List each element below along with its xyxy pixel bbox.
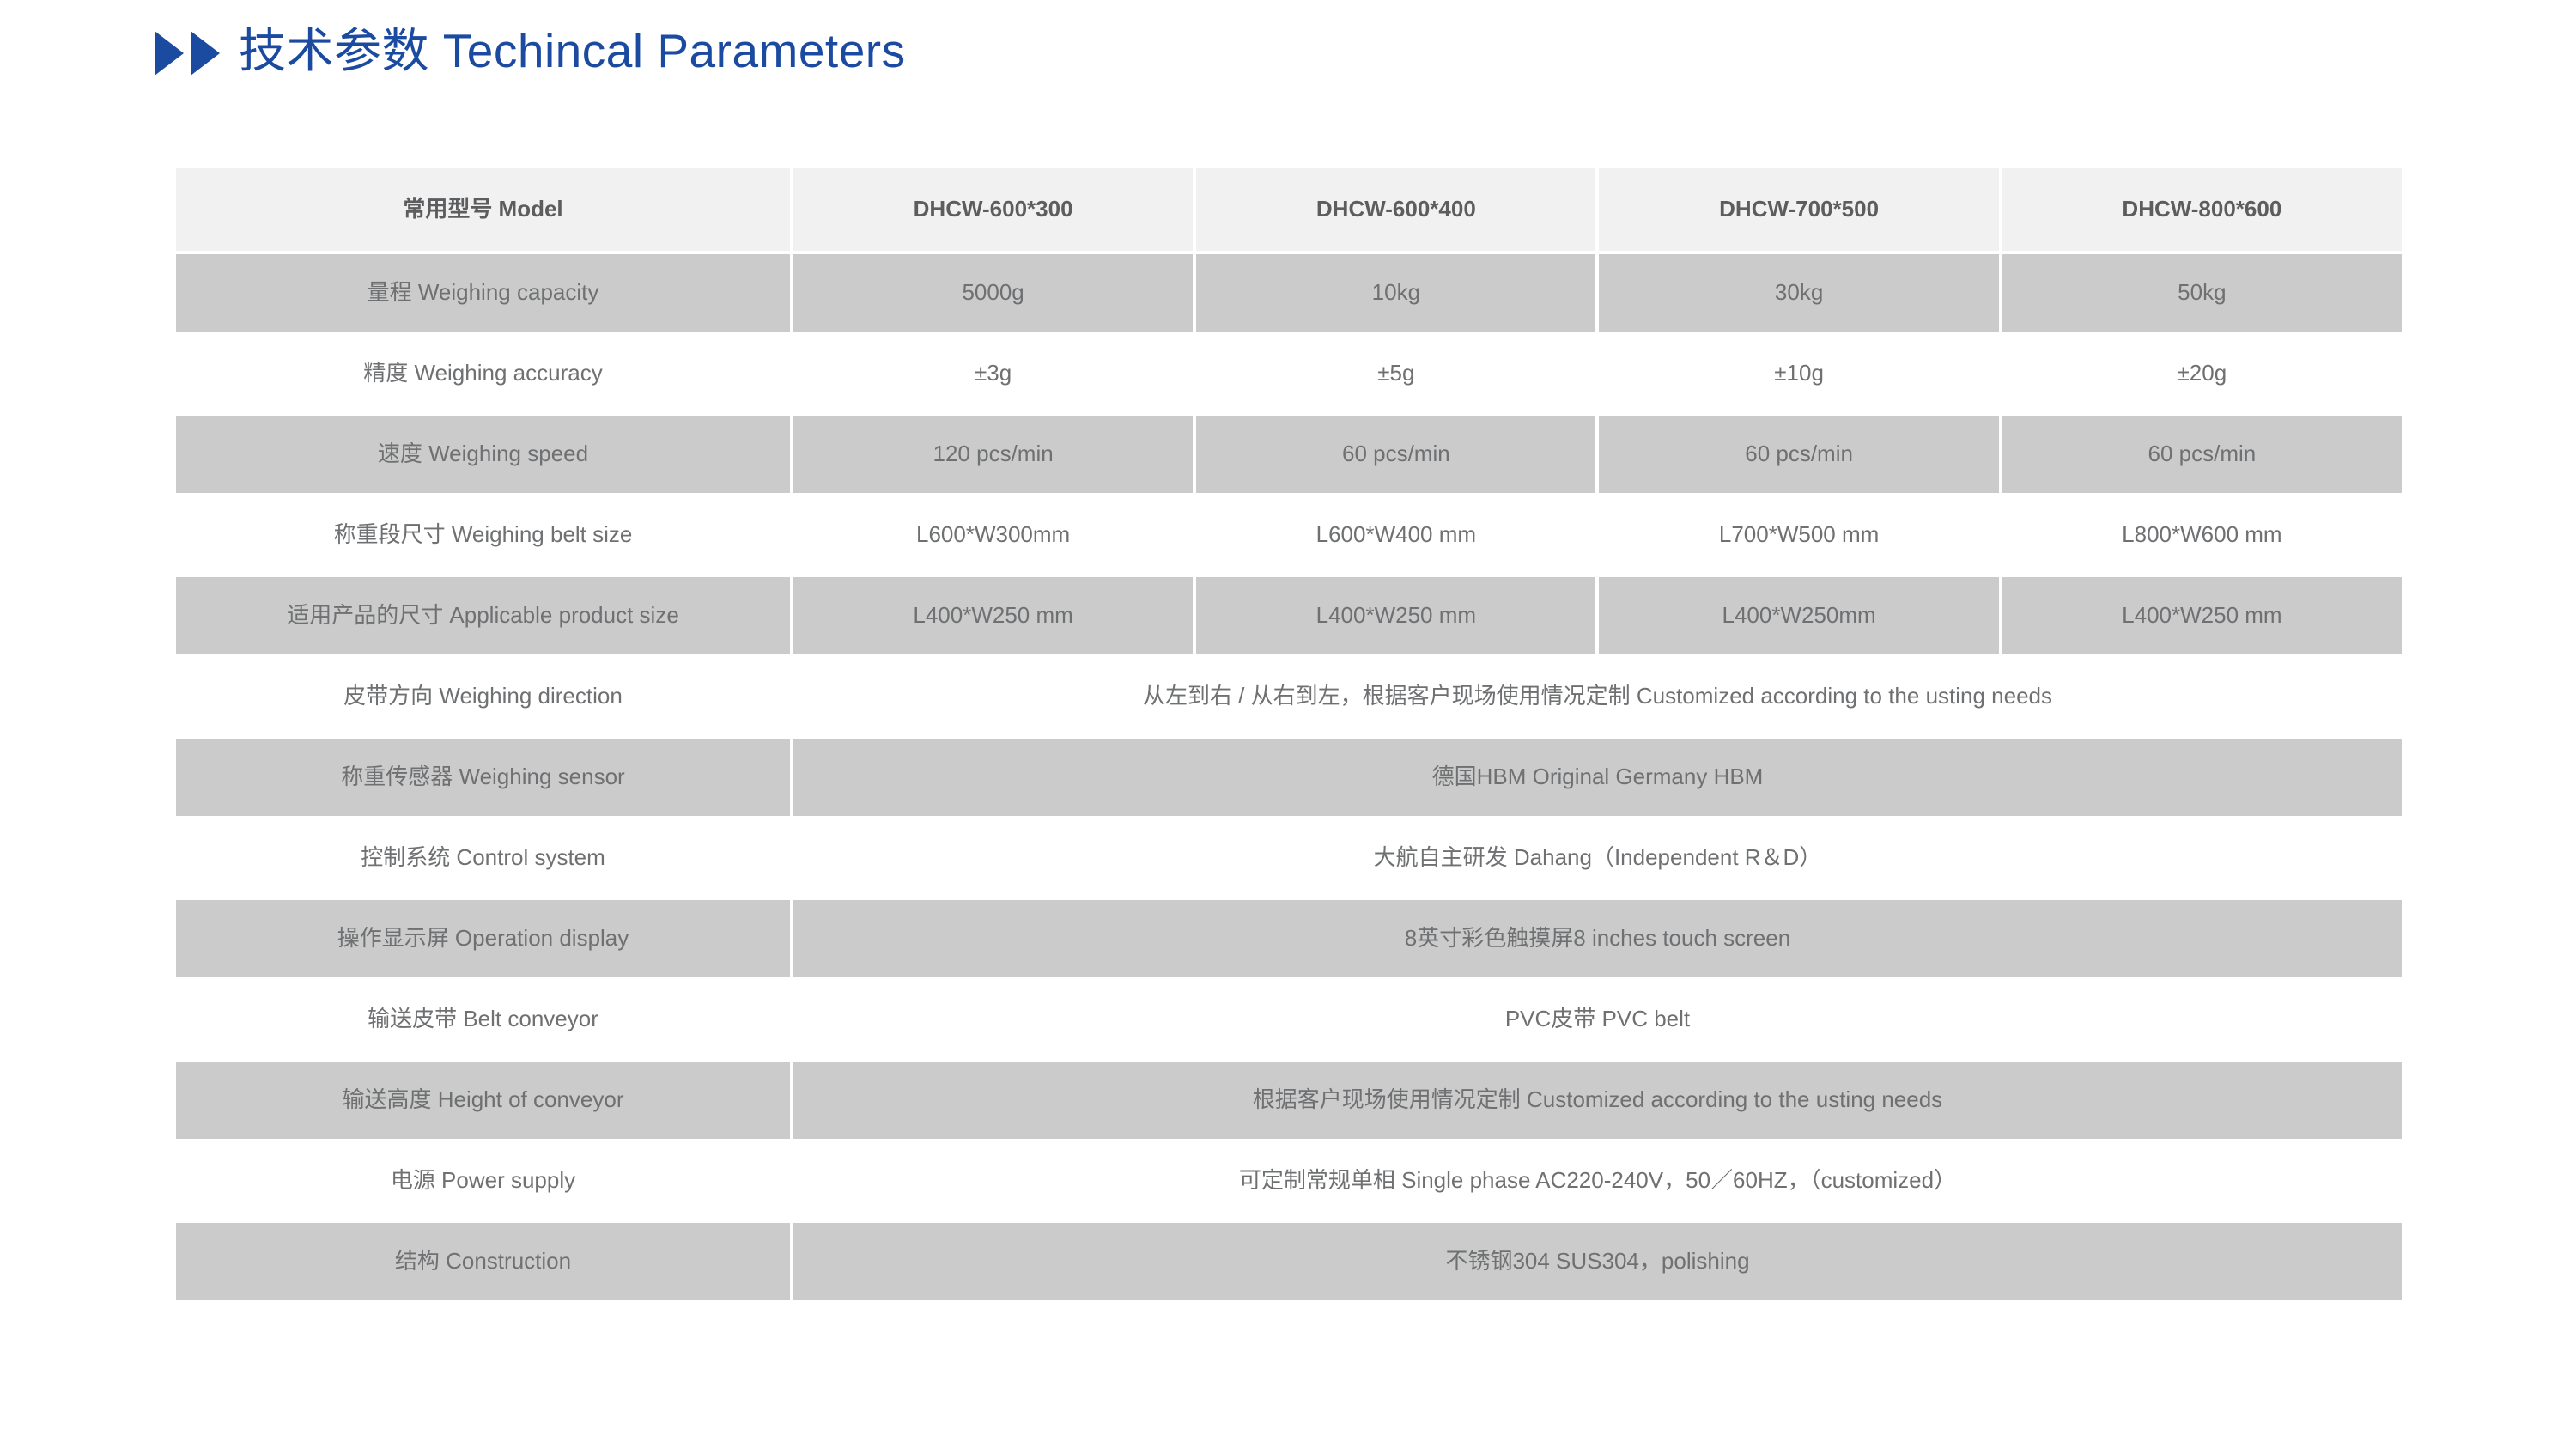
table-row: 精度 Weighing accuracy±3g±5g±10g±20g xyxy=(176,335,2402,412)
row-value: L400*W250 mm xyxy=(793,577,1193,654)
row-value: L600*W400 mm xyxy=(1196,496,1595,574)
arrow-group xyxy=(155,31,220,76)
table-row: 输送高度 Height of conveyor根据客户现场使用情况定制 Cust… xyxy=(176,1062,2402,1139)
table-row: 称重传感器 Weighing sensor德国HBM Original Germ… xyxy=(176,739,2402,816)
table-row: 皮带方向 Weighing direction从左到右 / 从右到左，根据客户现… xyxy=(176,658,2402,735)
table-header-model: DHCW-600*400 xyxy=(1196,168,1595,251)
row-value: 60 pcs/min xyxy=(1196,416,1595,493)
technical-parameters-table: 常用型号 ModelDHCW-600*300DHCW-600*400DHCW-7… xyxy=(173,165,2405,1304)
row-value-merged: 大航自主研发 Dahang（Independent R＆D） xyxy=(793,819,2402,897)
row-label: 皮带方向 Weighing direction xyxy=(176,658,790,735)
row-value-merged: 8英寸彩色触摸屏8 inches touch screen xyxy=(793,900,2402,977)
row-value: L800*W600 mm xyxy=(2002,496,2402,574)
row-value-merged: PVC皮带 PVC belt xyxy=(793,981,2402,1058)
table-row: 操作显示屏 Operation display8英寸彩色触摸屏8 inches … xyxy=(176,900,2402,977)
table-body: 常用型号 ModelDHCW-600*300DHCW-600*400DHCW-7… xyxy=(176,168,2402,1300)
row-value-merged: 可定制常规单相 Single phase AC220-240V，50／60HZ，… xyxy=(793,1142,2402,1220)
table-row: 适用产品的尺寸 Applicable product sizeL400*W250… xyxy=(176,577,2402,654)
table-row: 称重段尺寸 Weighing belt sizeL600*W300mmL600*… xyxy=(176,496,2402,574)
row-value: ±20g xyxy=(2002,335,2402,412)
row-label: 结构 Construction xyxy=(176,1223,790,1300)
row-label: 称重传感器 Weighing sensor xyxy=(176,739,790,816)
row-value-merged: 根据客户现场使用情况定制 Customized according to the… xyxy=(793,1062,2402,1139)
row-value: 30kg xyxy=(1599,254,1998,332)
table-header-model: DHCW-800*600 xyxy=(2002,168,2402,251)
row-label: 输送高度 Height of conveyor xyxy=(176,1062,790,1139)
row-value-merged: 从左到右 / 从右到左，根据客户现场使用情况定制 Customized acco… xyxy=(793,658,2402,735)
row-label: 精度 Weighing accuracy xyxy=(176,335,790,412)
row-value: L400*W250 mm xyxy=(1196,577,1595,654)
row-value: L400*W250 mm xyxy=(2002,577,2402,654)
triangle-right-icon xyxy=(191,31,220,76)
row-label: 电源 Power supply xyxy=(176,1142,790,1220)
page-title: 技术参数 Techincal Parameters xyxy=(239,27,906,75)
row-value-merged: 德国HBM Original Germany HBM xyxy=(793,739,2402,816)
row-label: 输送皮带 Belt conveyor xyxy=(176,981,790,1058)
row-value: 60 pcs/min xyxy=(1599,416,1998,493)
row-value: L600*W300mm xyxy=(793,496,1193,574)
table-header-model: DHCW-600*300 xyxy=(793,168,1193,251)
table-header-model: DHCW-700*500 xyxy=(1599,168,1998,251)
table-row: 量程 Weighing capacity5000g10kg30kg50kg xyxy=(176,254,2402,332)
table-row: 电源 Power supply可定制常规单相 Single phase AC22… xyxy=(176,1142,2402,1220)
table-row: 速度 Weighing speed120 pcs/min60 pcs/min60… xyxy=(176,416,2402,493)
row-label: 控制系统 Control system xyxy=(176,819,790,897)
row-value: L700*W500 mm xyxy=(1599,496,1998,574)
row-label: 量程 Weighing capacity xyxy=(176,254,790,332)
row-label: 适用产品的尺寸 Applicable product size xyxy=(176,577,790,654)
row-value-merged: 不锈钢304 SUS304，polishing xyxy=(793,1223,2402,1300)
row-value: 50kg xyxy=(2002,254,2402,332)
table-row: 输送皮带 Belt conveyorPVC皮带 PVC belt xyxy=(176,981,2402,1058)
table-header-row: 常用型号 ModelDHCW-600*300DHCW-600*400DHCW-7… xyxy=(176,168,2402,251)
page-header: 技术参数 Techincal Parameters xyxy=(155,26,906,76)
row-label: 称重段尺寸 Weighing belt size xyxy=(176,496,790,574)
row-value: ±3g xyxy=(793,335,1193,412)
row-value: ±5g xyxy=(1196,335,1595,412)
row-value: 60 pcs/min xyxy=(2002,416,2402,493)
row-value: L400*W250mm xyxy=(1599,577,1998,654)
row-value: ±10g xyxy=(1599,335,1998,412)
table-row: 结构 Construction不锈钢304 SUS304，polishing xyxy=(176,1223,2402,1300)
table-row: 控制系统 Control system大航自主研发 Dahang（Indepen… xyxy=(176,819,2402,897)
row-label: 操作显示屏 Operation display xyxy=(176,900,790,977)
row-value: 10kg xyxy=(1196,254,1595,332)
row-label: 速度 Weighing speed xyxy=(176,416,790,493)
row-value: 120 pcs/min xyxy=(793,416,1193,493)
row-value: 5000g xyxy=(793,254,1193,332)
triangle-right-icon xyxy=(155,31,184,76)
table-header-label: 常用型号 Model xyxy=(176,168,790,251)
